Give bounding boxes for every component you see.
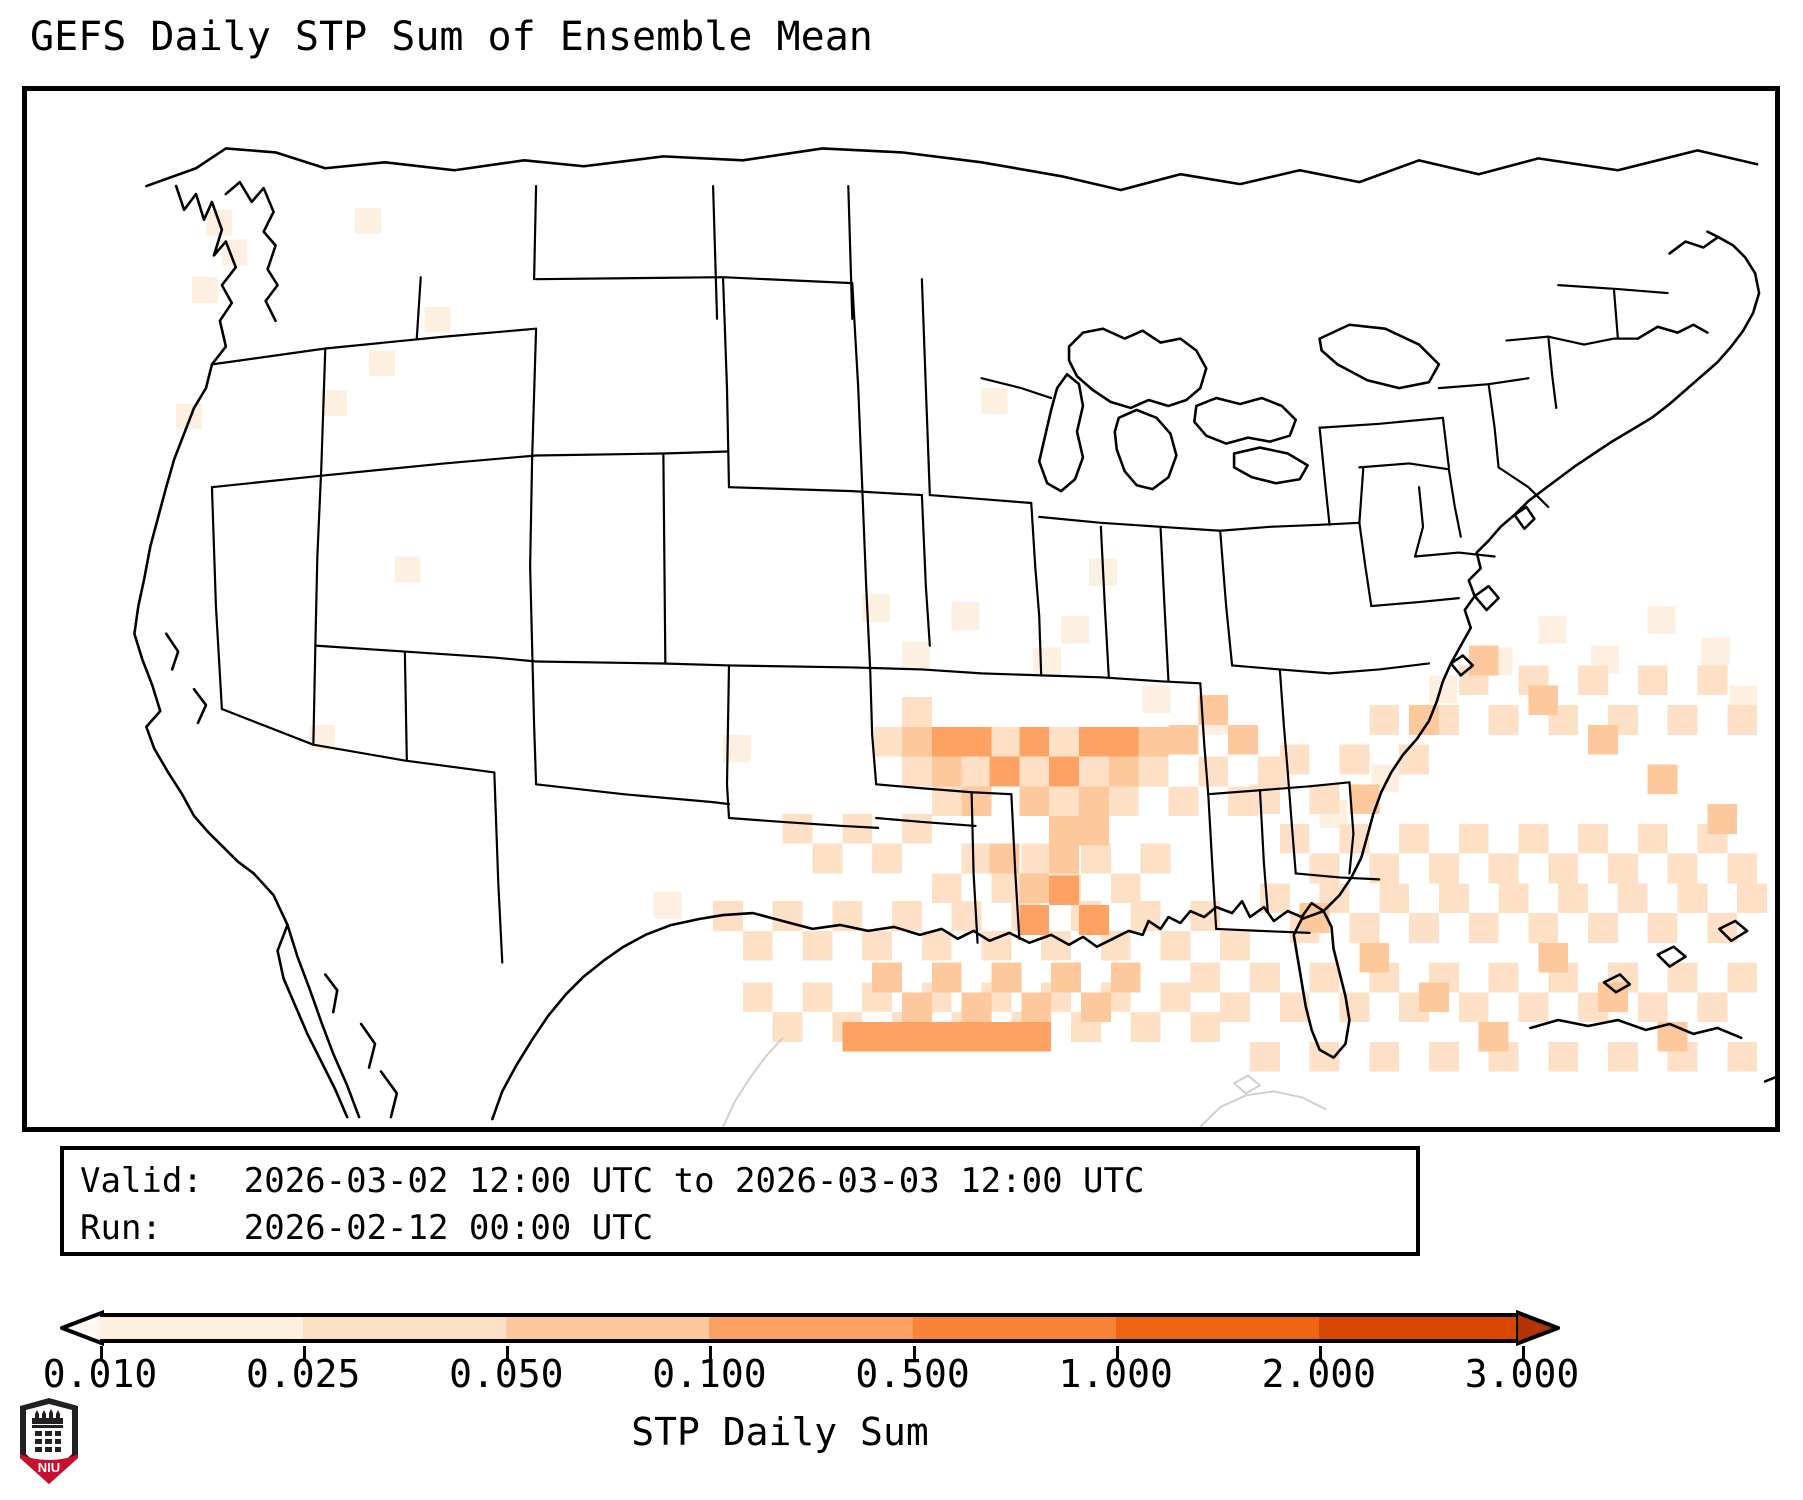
colorbar-tick-label-5: 1.000 [1059,1352,1173,1396]
colorbar-segment-0 [100,1317,303,1339]
colorbar-tick-label-0: 0.010 [43,1352,157,1396]
colorbar[interactable] [60,1310,1560,1350]
colorbar-segments[interactable] [100,1313,1522,1343]
valid-time-line: Valid: 2026-03-02 12:00 UTC to 2026-03-0… [80,1158,1400,1205]
colorbar-tick-label-1: 0.025 [246,1352,360,1396]
colorbar-under-arrow [60,1310,104,1346]
colorbar-tick-label-6: 2.000 [1262,1352,1376,1396]
colorbar-title: STP Daily Sum [0,1410,1560,1454]
colorbar-segment-4 [913,1317,1116,1339]
colorbar-segment-3 [709,1317,912,1339]
state-boundaries [212,186,1668,963]
coastlines [723,232,1775,1082]
colorbar-segment-6 [1319,1317,1522,1339]
colorbar-segment-2 [506,1317,709,1339]
obscured-coastline [723,1038,1326,1127]
colorbar-tick-label-4: 0.500 [855,1352,969,1396]
colorbar-tick-label-2: 0.050 [449,1352,563,1396]
colorbar-tick-labels: 0.0100.0250.0500.1000.5001.0002.0003.000 [0,1352,1620,1402]
page-title: GEFS Daily STP Sum of Ensemble Mean [30,14,873,60]
niu-logo-text: NIU [38,1460,60,1475]
map-panel [22,86,1780,1132]
niu-logo: NIU [16,1396,82,1486]
national-borders [134,148,1757,1119]
colorbar-tick-label-7: 3.000 [1465,1352,1579,1396]
map-geography [27,91,1775,1127]
valid-run-info-box: Valid: 2026-03-02 12:00 UTC to 2026-03-0… [60,1146,1420,1256]
colorbar-tick-label-3: 0.100 [652,1352,766,1396]
run-time-line: Run: 2026-02-12 00:00 UTC [80,1205,1400,1252]
colorbar-over-arrow [1516,1310,1560,1346]
map-canvas [27,91,1775,1127]
colorbar-segment-1 [303,1317,506,1339]
colorbar-segment-5 [1116,1317,1319,1339]
